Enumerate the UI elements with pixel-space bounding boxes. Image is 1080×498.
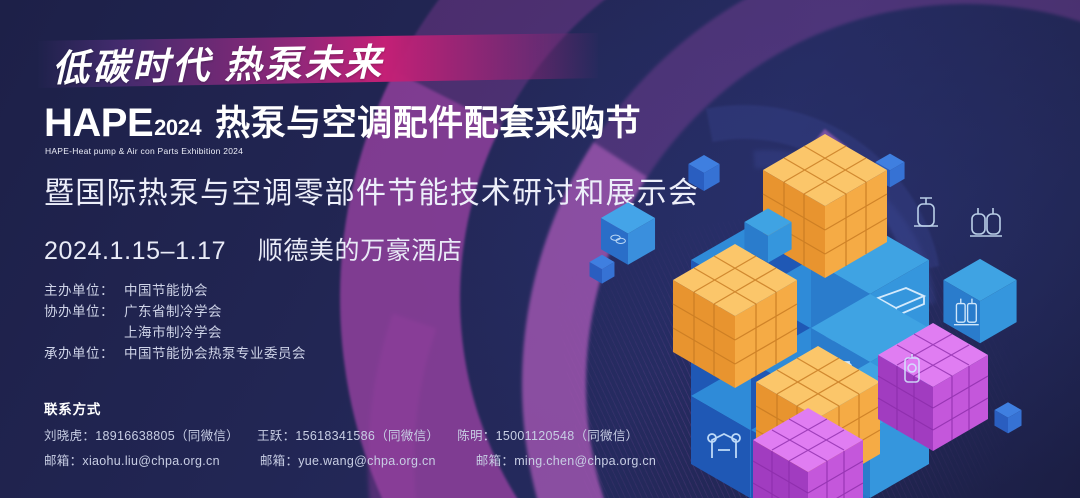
organizer-row: 承办单位： 中国节能协会热泵专业委员会 xyxy=(44,343,306,364)
page-title: 热泵与空调配件配套采购节 xyxy=(215,106,641,141)
contact-email-item: 邮箱：xiaohu.liu@chpa.org.cn xyxy=(44,450,220,469)
date-venue-line: 2024.1.15–1.17 顺德美的万豪酒店 xyxy=(44,231,463,267)
event-venue: 顺德美的万豪酒店 xyxy=(258,237,463,265)
organizers-block: 主办单位： 中国节能协会 协办单位： 广东省制冷学会 协办单位： 上海市制冷学会… xyxy=(44,280,306,364)
organizer-label: 主办单位： xyxy=(44,280,124,301)
logo-year: 2024 xyxy=(154,117,201,139)
headline-row: HAPE 2024 HAPE-Heat pump & Air con Parts… xyxy=(44,104,641,142)
exhibition-poster: 低碳时代 热泵未来 HAPE 2024 HAPE-Heat pump & Air… xyxy=(0,0,1080,498)
contact-wechat-note: （同微信） xyxy=(375,429,439,443)
organizer-row: 协办单位： 上海市制冷学会 xyxy=(44,322,306,343)
organizer-label: 承办单位： xyxy=(44,343,124,364)
organizer-row: 主办单位： 中国节能协会 xyxy=(44,280,306,301)
page-subtitle: 暨国际热泵与空调零部件节能技术研讨和展示会 xyxy=(44,168,699,212)
floating-small-cube xyxy=(688,155,719,191)
contact-name: 王跃： xyxy=(257,429,295,443)
isometric-cube-artwork xyxy=(650,110,1050,440)
contact-phone: 15618341586 xyxy=(295,429,375,443)
email-label: 邮箱： xyxy=(476,454,514,468)
contact-email-row: 邮箱：xiaohu.liu@chpa.org.cn 邮箱：yue.wang@ch… xyxy=(44,450,656,469)
contact-email: yue.wang@chpa.org.cn xyxy=(298,454,436,468)
contact-email-item: 邮箱：ming.chen@chpa.org.cn xyxy=(476,450,656,469)
contact-phone-item: 刘晓虎：18916638805（同微信） xyxy=(44,425,239,444)
email-label: 邮箱： xyxy=(260,454,298,468)
logo-english-subtitle: HAPE-Heat pump & Air con Parts Exhibitio… xyxy=(45,146,243,156)
contact-name: 陈明： xyxy=(457,429,495,443)
contact-wechat-note: （同微信） xyxy=(175,429,239,443)
contact-email: xiaohu.liu@chpa.org.cn xyxy=(82,454,219,468)
organizer-row: 协办单位： 广东省制冷学会 xyxy=(44,301,306,322)
logo-wordmark: HAPE xyxy=(44,104,153,142)
contact-phone-item: 陈明：15001120548（同微信） xyxy=(457,425,638,444)
contact-name: 刘晓虎： xyxy=(44,429,95,443)
contact-phone-row: 刘晓虎：18916638805（同微信） 王跃：15618341586（同微信）… xyxy=(44,425,656,444)
floating-small-cube xyxy=(994,402,1021,433)
contact-phone: 15001120548 xyxy=(496,429,575,443)
organizer-value: 中国节能协会 xyxy=(124,280,208,301)
contact-section-title: 联系方式 xyxy=(44,398,101,418)
contact-wechat-note: （同微信） xyxy=(574,429,638,443)
contact-email-item: 邮箱：yue.wang@chpa.org.cn xyxy=(260,450,436,469)
contact-phone-item: 王跃：15618341586（同微信） xyxy=(257,425,439,444)
contact-email: ming.chen@chpa.org.cn xyxy=(514,454,656,468)
floating-small-cube xyxy=(590,255,615,284)
event-date: 2024.1.15–1.17 xyxy=(44,237,226,265)
organizer-label: 协办单位： xyxy=(44,301,124,322)
organizer-value: 上海市制冷学会 xyxy=(124,322,222,343)
kicker-slogan: 低碳时代 热泵未来 xyxy=(51,26,592,94)
email-label: 邮箱： xyxy=(44,454,82,468)
hape-logo: HAPE 2024 HAPE-Heat pump & Air con Parts… xyxy=(44,104,201,142)
organizer-value: 广东省制冷学会 xyxy=(124,301,222,322)
detached-icon-cube xyxy=(943,259,1016,343)
contact-phone: 18916638805 xyxy=(95,429,175,443)
organizer-value: 中国节能协会热泵专业委员会 xyxy=(124,343,306,364)
